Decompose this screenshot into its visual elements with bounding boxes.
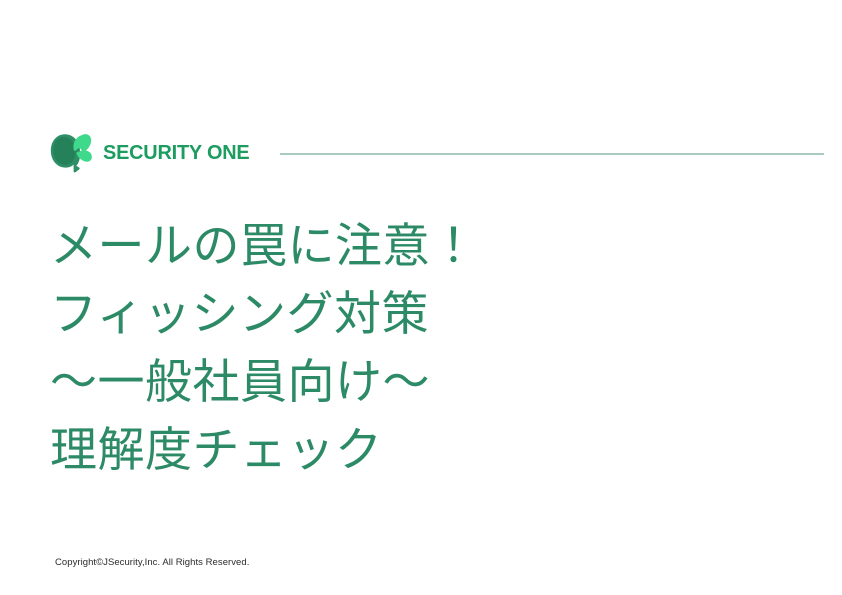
- title-line-3: 〜一般社員向け〜: [50, 349, 750, 417]
- title-line-4: 理解度チェック: [50, 417, 750, 485]
- title-line-1: メールの罠に注意！: [50, 213, 750, 281]
- brand-wordmark: SECURITY ONE: [103, 143, 249, 164]
- slide-header: SECURITY ONE: [0, 131, 842, 175]
- title-slide: SECURITY ONE メールの罠に注意！ フィッシング対策 〜一般社員向け〜…: [0, 0, 842, 595]
- brand-lockup: SECURITY ONE: [50, 133, 254, 173]
- header-divider-rule: [280, 153, 824, 155]
- title-line-2: フィッシング対策: [50, 281, 750, 349]
- copyright-text: Copyright©JSecurity,Inc. All Rights Rese…: [55, 558, 249, 568]
- security-one-logo-mark-icon: [50, 133, 94, 173]
- page-title: メールの罠に注意！ フィッシング対策 〜一般社員向け〜 理解度チェック: [50, 213, 750, 485]
- slide-footer: Copyright©JSecurity,Inc. All Rights Rese…: [55, 558, 249, 568]
